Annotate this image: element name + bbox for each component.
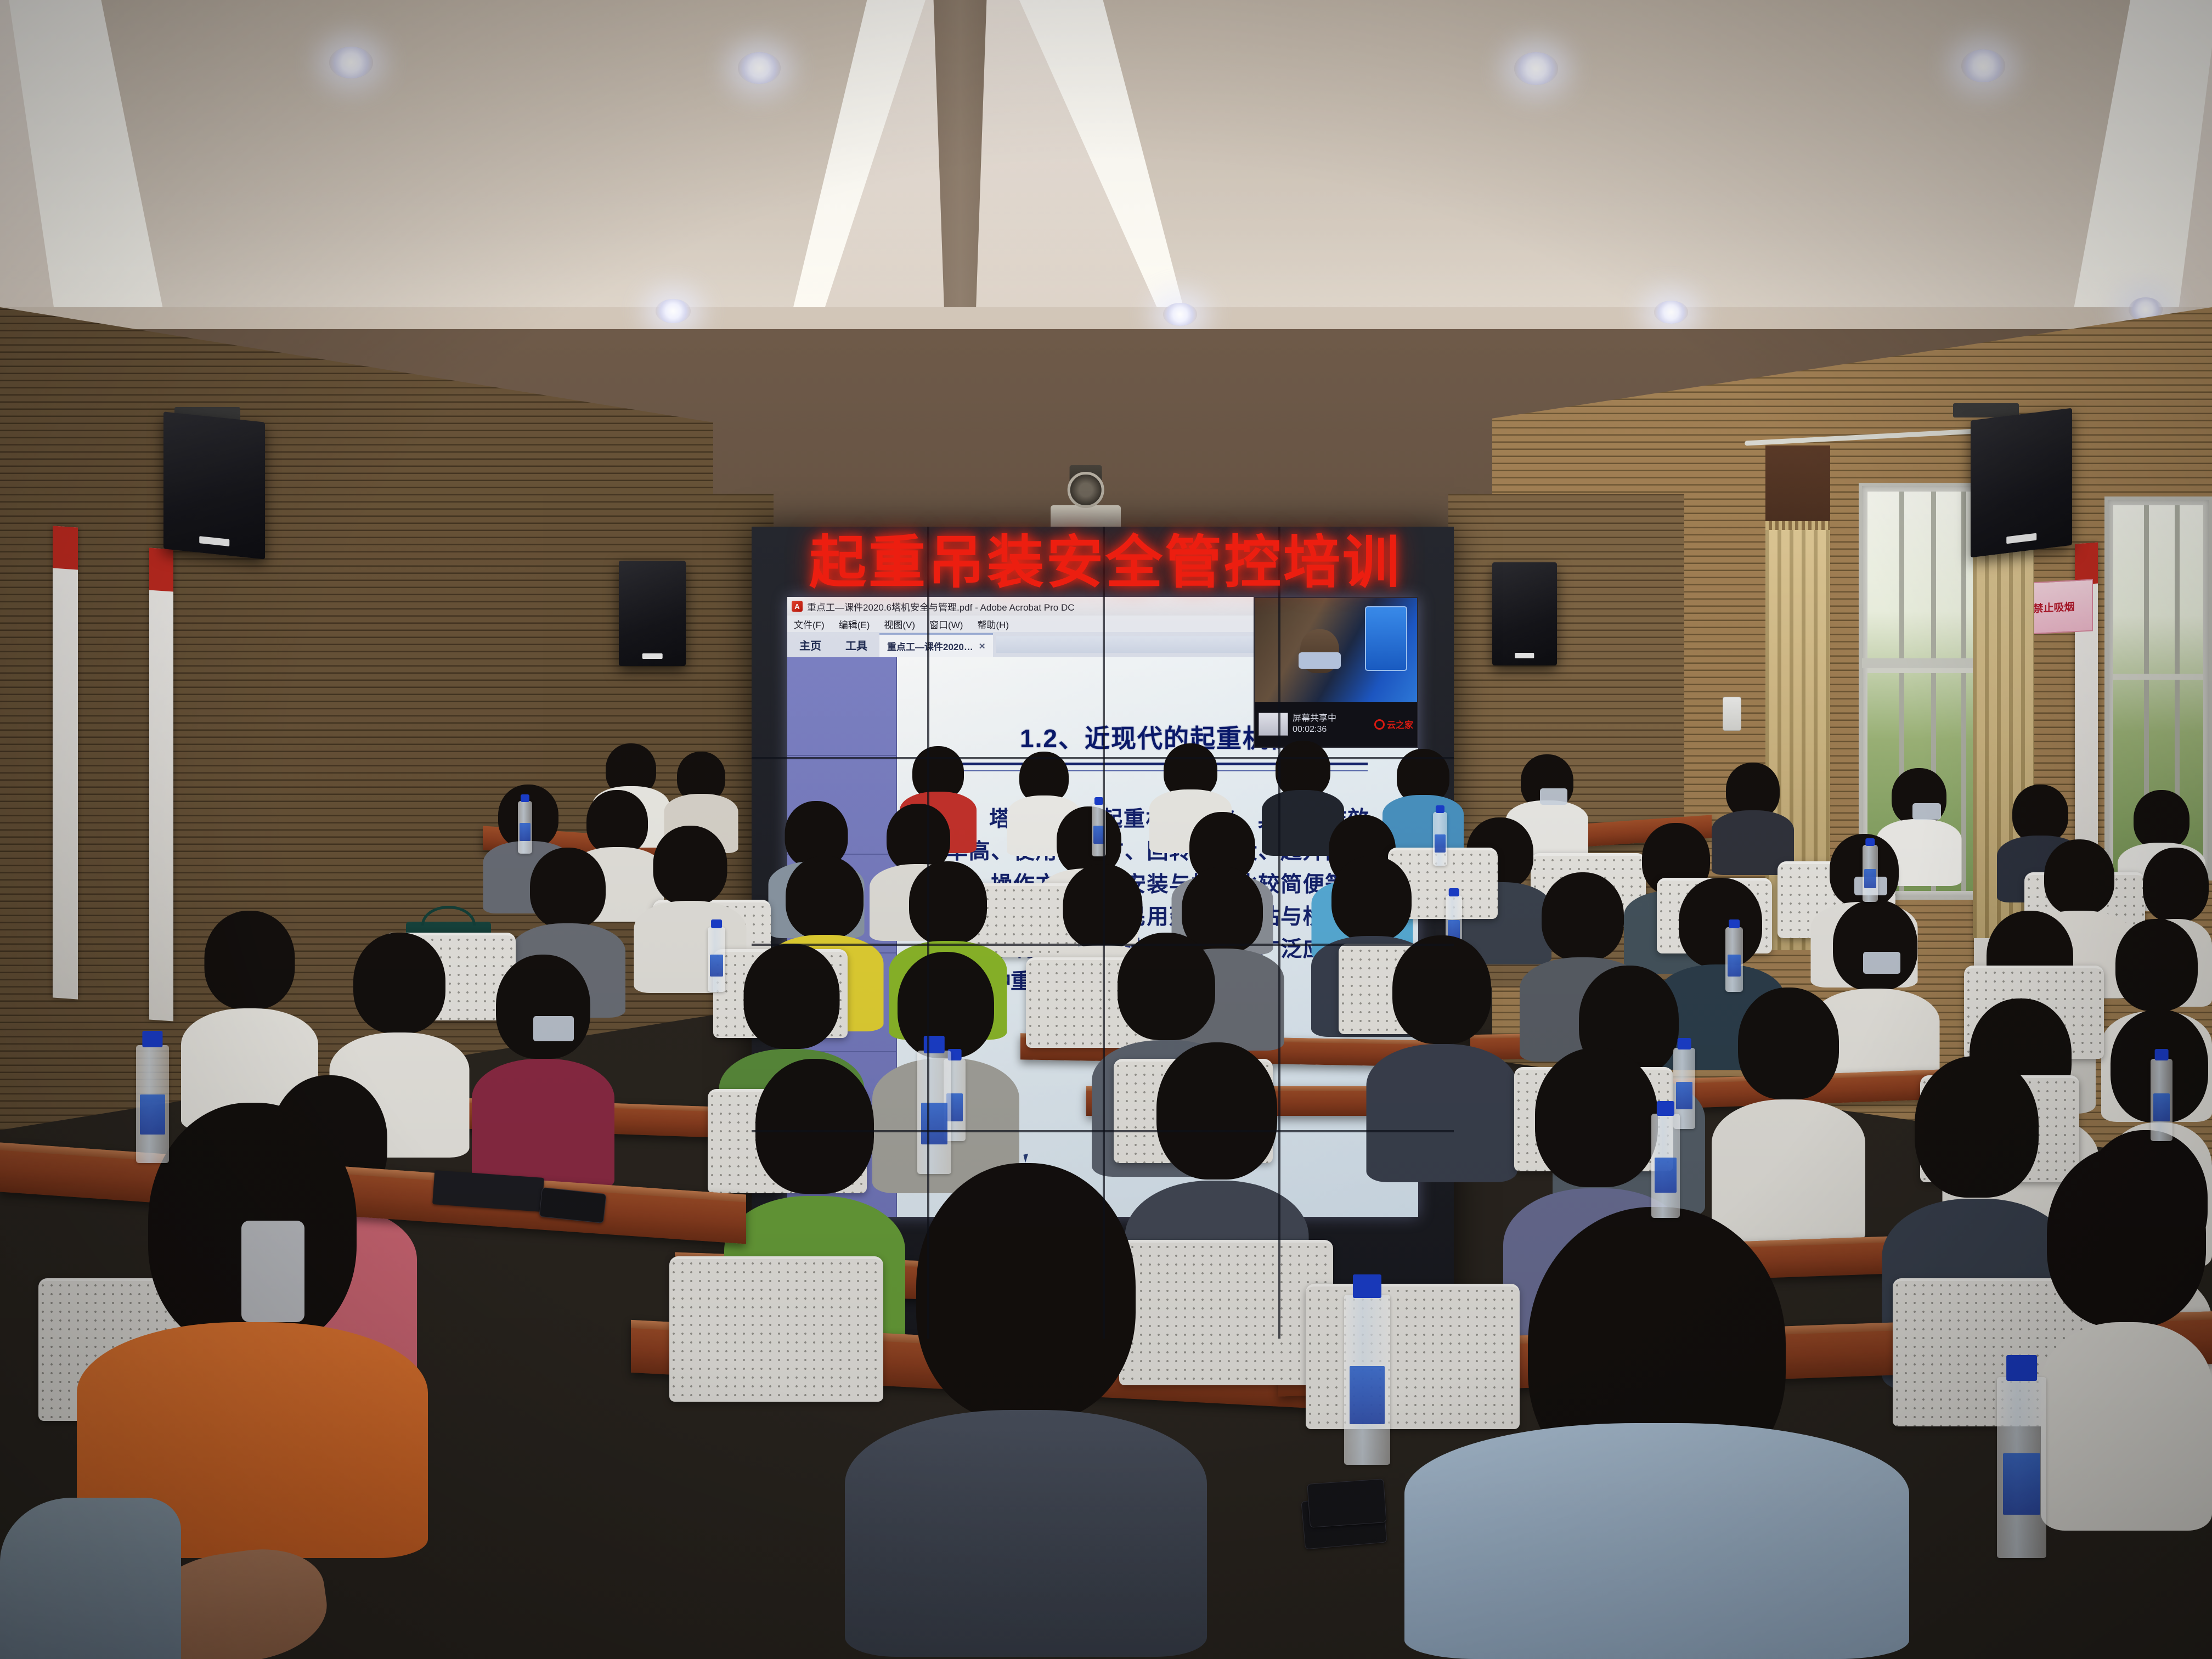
attendee-front-center bbox=[845, 1163, 1207, 1657]
training-room-photo: 禁止吸烟 bbox=[0, 0, 2212, 1659]
wall-banner-left-2 bbox=[149, 548, 173, 1021]
front-speaker-right bbox=[1492, 562, 1557, 665]
bottle-cap bbox=[142, 1031, 162, 1047]
attendee-head bbox=[786, 856, 864, 939]
attendee-head bbox=[1392, 935, 1491, 1044]
bottle-label bbox=[1093, 826, 1104, 844]
thumbnail-slot[interactable] bbox=[787, 657, 896, 756]
attendee-head bbox=[1276, 741, 1330, 798]
downlight-icon bbox=[738, 52, 781, 84]
attendee-torso bbox=[1404, 1423, 1909, 1659]
attendee-head bbox=[743, 944, 839, 1049]
attendee-head bbox=[2143, 848, 2209, 922]
attendee-head bbox=[2047, 1147, 2206, 1328]
downlight-icon bbox=[1514, 52, 1558, 85]
bottle-cap bbox=[2006, 1355, 2037, 1380]
acrobat-logo-icon: A bbox=[792, 601, 803, 612]
conference-video-panel[interactable]: 屏幕共享中 00:02:36 云之家 bbox=[1254, 597, 1418, 748]
attendee-right-edge bbox=[2041, 1147, 2212, 1531]
attendee-torso bbox=[845, 1410, 1207, 1657]
bottle-label bbox=[2153, 1093, 2170, 1121]
menu-file[interactable]: 文件(F) bbox=[794, 617, 825, 631]
curtain-trim bbox=[1765, 521, 1830, 530]
menu-edit[interactable]: 编辑(E) bbox=[839, 617, 870, 631]
wall-thermostat[interactable] bbox=[1723, 697, 1741, 731]
conference-timer: 00:02:36 bbox=[1293, 724, 1336, 735]
attendee-bottom-left bbox=[0, 1498, 181, 1659]
bottle-cap bbox=[924, 1036, 945, 1053]
conference-brand-label: 云之家 bbox=[1387, 718, 1413, 731]
water-bottle[interactable] bbox=[1997, 1377, 2046, 1558]
attendee-head bbox=[1156, 1042, 1277, 1180]
downlight-icon bbox=[1961, 49, 2005, 82]
brand-ring-icon bbox=[1374, 719, 1385, 730]
document-tab-close-icon[interactable]: ✕ bbox=[979, 641, 986, 651]
face-mask-icon bbox=[1912, 803, 1941, 820]
wall-speaker-left bbox=[163, 411, 265, 559]
water-bottle[interactable] bbox=[1863, 845, 1878, 902]
water-bottle[interactable] bbox=[917, 1051, 951, 1174]
downlight-icon bbox=[1163, 303, 1197, 326]
attendee-torso bbox=[472, 1059, 614, 1190]
bottle-cap bbox=[1353, 1274, 1381, 1298]
conference-status-label: 屏幕共享中 bbox=[1293, 713, 1336, 724]
water-bottle[interactable] bbox=[708, 927, 725, 992]
bottle-cap bbox=[521, 794, 529, 802]
ceiling-beam bbox=[900, 0, 1020, 351]
water-bottle[interactable] bbox=[2151, 1059, 2172, 1141]
attendee-head bbox=[353, 933, 445, 1034]
water-bottle[interactable] bbox=[136, 1045, 169, 1163]
bottle-label bbox=[2003, 1453, 2040, 1515]
bottle-cap bbox=[1449, 888, 1459, 896]
bottle-label bbox=[1676, 1082, 1692, 1109]
mouse-cursor-icon bbox=[1023, 1153, 1032, 1163]
speaker-brand-badge bbox=[642, 653, 663, 659]
attendee-blue-shirt-foreground bbox=[1404, 1207, 1909, 1659]
bottle-cap bbox=[1094, 797, 1103, 804]
water-bottle[interactable] bbox=[518, 801, 532, 854]
speaker-brand-badge bbox=[1515, 653, 1534, 658]
attendee bbox=[1366, 935, 1517, 1182]
wall-speaker-right bbox=[1971, 408, 2072, 558]
attendee bbox=[472, 955, 614, 1190]
attendee-torso bbox=[2041, 1322, 2212, 1531]
attendee-head bbox=[653, 826, 727, 905]
face-mask-icon bbox=[533, 1016, 574, 1041]
bottle-label bbox=[1864, 869, 1876, 888]
face-mask-icon bbox=[1863, 952, 1900, 974]
conference-statusbar: 屏幕共享中 00:02:36 云之家 bbox=[1255, 702, 1417, 747]
wall-banner-left-1 bbox=[53, 526, 78, 999]
bottle-label bbox=[520, 823, 531, 841]
no-smoking-label: 禁止吸烟 bbox=[2033, 599, 2074, 616]
attendee-head bbox=[916, 1163, 1136, 1421]
face-mask-icon bbox=[1540, 788, 1567, 805]
bottle-cap bbox=[1657, 1101, 1674, 1116]
banner-header bbox=[149, 548, 173, 591]
banner-header bbox=[53, 526, 78, 570]
attendee-head bbox=[1738, 988, 1839, 1099]
tab-tools[interactable]: 工具 bbox=[833, 633, 879, 657]
front-speaker-left bbox=[619, 561, 686, 666]
bottle-cap bbox=[1865, 838, 1875, 847]
menu-window[interactable]: 窗口(W) bbox=[929, 617, 963, 631]
bottle-cap bbox=[2155, 1049, 2169, 1060]
smartphone[interactable] bbox=[1307, 1479, 1386, 1528]
curtain-valance bbox=[1765, 445, 1830, 526]
attendee-head bbox=[496, 955, 590, 1059]
banner-header bbox=[2075, 543, 2098, 585]
face-mask-icon bbox=[241, 1221, 304, 1322]
downlight-icon bbox=[329, 47, 373, 78]
attendee-head bbox=[909, 861, 987, 945]
participant-phone-screen bbox=[1365, 606, 1407, 671]
menu-view[interactable]: 视图(V) bbox=[884, 617, 915, 631]
attendee-orange-shirt bbox=[77, 1103, 428, 1558]
bottle-label bbox=[140, 1094, 165, 1135]
screenshare-thumbnail bbox=[1259, 713, 1288, 736]
downlight-icon bbox=[1654, 301, 1688, 324]
projector-lens-icon bbox=[1068, 472, 1104, 509]
bottle-cap bbox=[711, 919, 722, 929]
attendee-head bbox=[1833, 900, 1917, 991]
attendee-head bbox=[2134, 790, 2190, 849]
bottle-label bbox=[1655, 1158, 1677, 1193]
conference-video-feed bbox=[1255, 598, 1417, 702]
attendee-head bbox=[530, 848, 606, 929]
conference-brand: 云之家 bbox=[1374, 718, 1413, 731]
conference-status: 屏幕共享中 00:02:36 bbox=[1293, 713, 1336, 735]
attendee-head bbox=[1542, 872, 1624, 961]
water-bottle[interactable] bbox=[1433, 812, 1447, 866]
attendee-head bbox=[205, 911, 295, 1009]
acrobat-window-title: 重点工—课件2020.6塔机安全与管理.pdf - Adobe Acrobat … bbox=[807, 600, 1075, 613]
document-tab[interactable]: 重点工—课件2020… ✕ bbox=[879, 633, 993, 657]
attendee-head bbox=[1915, 1056, 2039, 1198]
attendee-head bbox=[1118, 933, 1215, 1040]
water-bottle[interactable] bbox=[1725, 927, 1743, 992]
bottle-cap bbox=[1436, 805, 1444, 813]
downlight-icon bbox=[656, 299, 691, 323]
participant-mask-icon bbox=[1299, 652, 1341, 669]
tab-home[interactable]: 主页 bbox=[787, 633, 833, 657]
attendee-torso bbox=[0, 1498, 181, 1659]
water-bottle[interactable] bbox=[1092, 804, 1106, 856]
bottle-label bbox=[1728, 955, 1741, 977]
bottle-label bbox=[710, 955, 723, 977]
menu-help[interactable]: 帮助(H) bbox=[977, 617, 1009, 631]
attendee-head bbox=[2044, 839, 2114, 915]
speaker-brand-badge bbox=[2006, 533, 2037, 544]
attendee-head bbox=[1331, 856, 1412, 941]
water-bottle[interactable] bbox=[1344, 1295, 1390, 1465]
bottle-cap bbox=[1729, 919, 1740, 929]
attendee-head bbox=[2115, 919, 2198, 1011]
document-tab-label: 重点工—课件2020… bbox=[887, 639, 973, 653]
attendee-torso bbox=[1366, 1044, 1517, 1182]
ceiling bbox=[0, 0, 2212, 384]
speaker-brand-badge bbox=[199, 536, 230, 546]
water-bottle[interactable] bbox=[1651, 1114, 1680, 1218]
bottle-cap bbox=[1678, 1038, 1691, 1049]
attendee-head bbox=[1679, 878, 1762, 968]
bottle-label bbox=[921, 1103, 947, 1145]
attendee-head bbox=[1535, 1048, 1658, 1187]
bottle-label bbox=[1350, 1366, 1385, 1424]
attendee-head bbox=[898, 952, 994, 1058]
bottle-label bbox=[1435, 834, 1446, 853]
attendee-head bbox=[2012, 785, 2068, 843]
